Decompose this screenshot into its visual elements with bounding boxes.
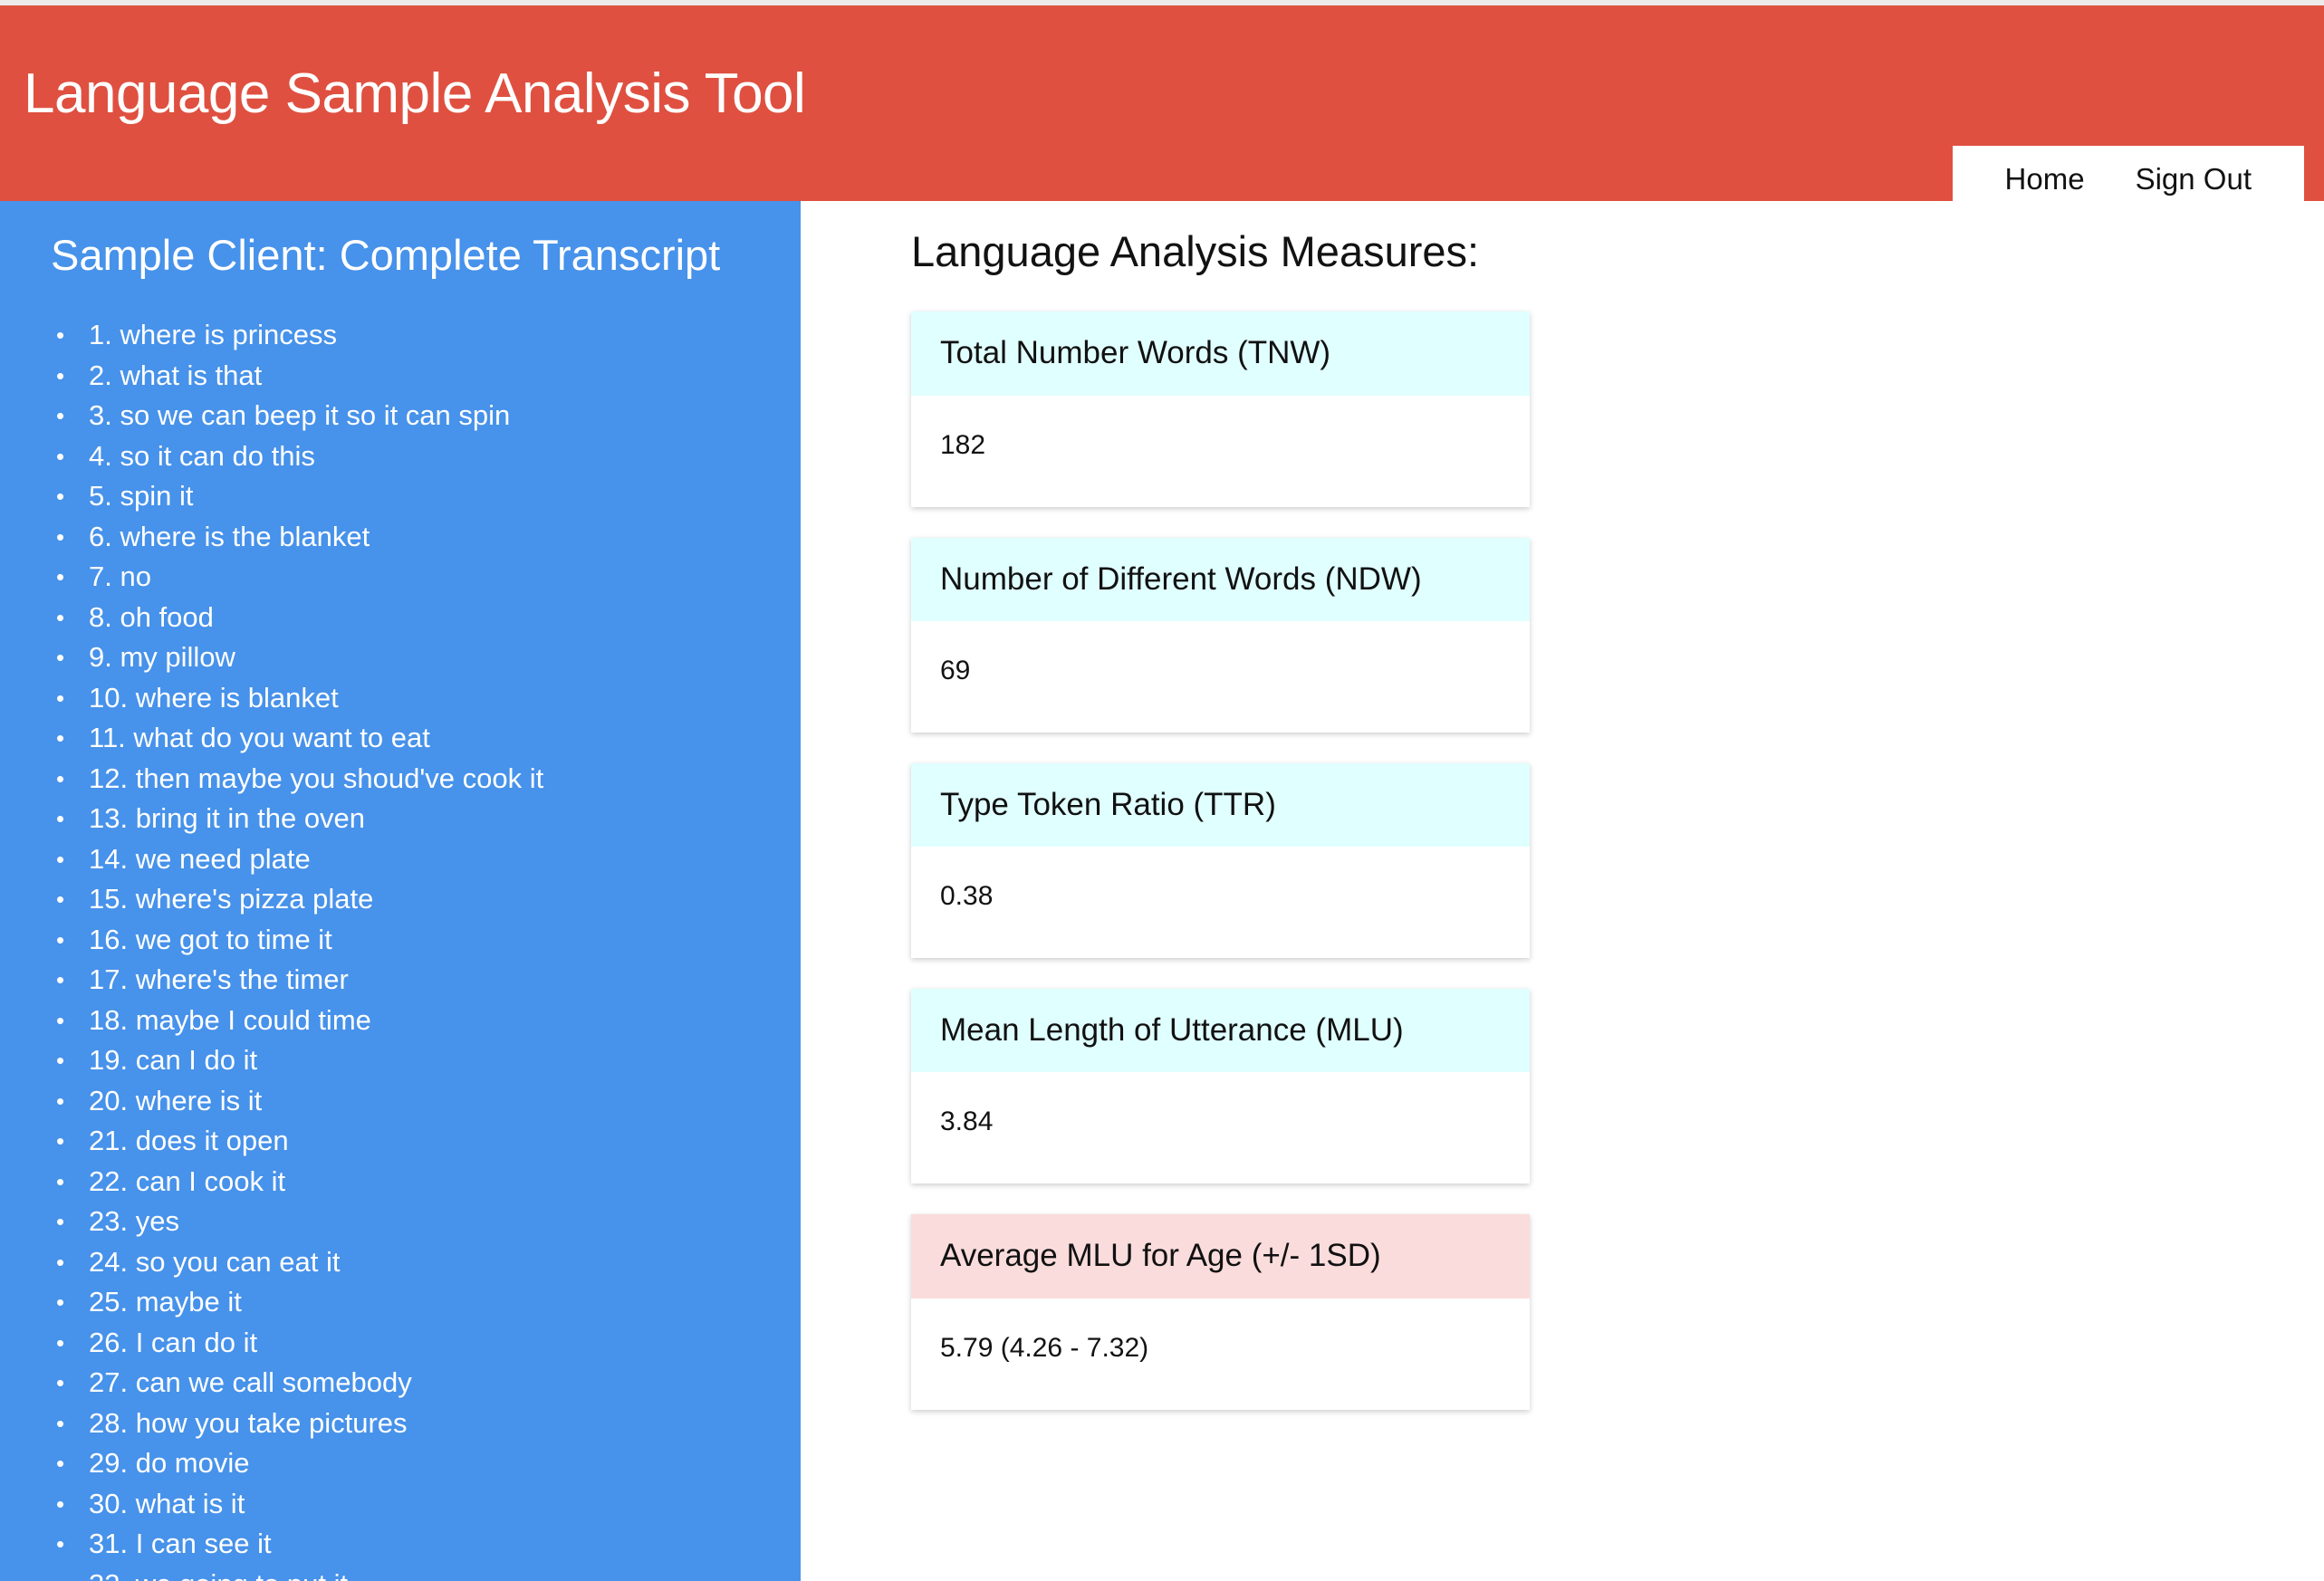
transcript-item: 6. where is the blanket	[89, 517, 801, 558]
transcript-item: 21. does it open	[89, 1121, 801, 1162]
measure-card: Average MLU for Age (+/- 1SD)5.79 (4.26 …	[911, 1214, 1530, 1409]
measure-card-value: 69	[911, 621, 1530, 733]
transcript-item: 29. do movie	[89, 1443, 801, 1484]
transcript-item: 13. bring it in the oven	[89, 799, 801, 839]
app-header: Language Sample Analysis Tool Home Sign …	[0, 5, 2324, 201]
transcript-item: 30. what is it	[89, 1484, 801, 1525]
transcript-item: 31. I can see it	[89, 1524, 801, 1565]
transcript-item: 15. where's pizza plate	[89, 879, 801, 920]
measure-card-label: Type Token Ratio (TTR)	[911, 763, 1530, 847]
page-body: Sample Client: Complete Transcript 1. wh…	[0, 201, 2324, 1581]
transcript-item: 2. what is that	[89, 356, 801, 397]
measures-title: Language Analysis Measures:	[911, 226, 2324, 277]
transcript-item: 5. spin it	[89, 476, 801, 517]
measure-card: Total Number Words (TNW)182	[911, 311, 1530, 506]
measure-card-value: 5.79 (4.26 - 7.32)	[911, 1298, 1530, 1410]
transcript-list: 1. where is princess2. what is that3. so…	[0, 315, 801, 1581]
transcript-item: 11. what do you want to eat	[89, 718, 801, 759]
transcript-item: 26. I can do it	[89, 1323, 801, 1364]
measure-card-value: 182	[911, 396, 1530, 507]
measure-card-stack: Total Number Words (TNW)182Number of Dif…	[911, 311, 2324, 1409]
transcript-item: 9. my pillow	[89, 637, 801, 678]
measure-card-label: Mean Length of Utterance (MLU)	[911, 989, 1530, 1072]
measures-panel: Language Analysis Measures: Total Number…	[801, 201, 2324, 1581]
transcript-item: 4. so it can do this	[89, 436, 801, 477]
measure-card: Number of Different Words (NDW)69	[911, 538, 1530, 733]
transcript-item: 20. where is it	[89, 1081, 801, 1122]
transcript-item: 17. where's the timer	[89, 960, 801, 1001]
measure-card-label: Total Number Words (TNW)	[911, 311, 1530, 395]
transcript-sidebar: Sample Client: Complete Transcript 1. wh…	[0, 201, 801, 1581]
measure-card-value: 3.84	[911, 1072, 1530, 1183]
transcript-item: 32. we going to put it	[89, 1565, 801, 1581]
transcript-item: 3. so we can beep it so it can spin	[89, 396, 801, 436]
transcript-item: 28. how you take pictures	[89, 1404, 801, 1444]
transcript-item: 7. no	[89, 557, 801, 598]
transcript-item: 1. where is princess	[89, 315, 801, 356]
nav-link-sign-out[interactable]: Sign Out	[2110, 146, 2277, 194]
transcript-item: 27. can we call somebody	[89, 1363, 801, 1404]
measure-card-value: 0.38	[911, 847, 1530, 958]
transcript-item: 24. so you can eat it	[89, 1242, 801, 1283]
transcript-item: 8. oh food	[89, 598, 801, 638]
transcript-item: 12. then maybe you shoud've cook it	[89, 759, 801, 800]
transcript-item: 23. yes	[89, 1202, 801, 1242]
main-nav: Home Sign Out	[1953, 146, 2304, 201]
transcript-title: Sample Client: Complete Transcript	[51, 230, 801, 281]
nav-link-home[interactable]: Home	[1980, 146, 2110, 194]
transcript-item: 16. we got to time it	[89, 920, 801, 961]
transcript-item: 25. maybe it	[89, 1282, 801, 1323]
transcript-item: 10. where is blanket	[89, 678, 801, 719]
app-title: Language Sample Analysis Tool	[24, 63, 805, 125]
measure-card-label: Average MLU for Age (+/- 1SD)	[911, 1214, 1530, 1298]
transcript-item: 22. can I cook it	[89, 1162, 801, 1203]
measure-card: Type Token Ratio (TTR)0.38	[911, 763, 1530, 958]
transcript-item: 18. maybe I could time	[89, 1001, 801, 1041]
measure-card-label: Number of Different Words (NDW)	[911, 538, 1530, 621]
measure-card: Mean Length of Utterance (MLU)3.84	[911, 989, 1530, 1183]
transcript-item: 19. can I do it	[89, 1040, 801, 1081]
transcript-item: 14. we need plate	[89, 839, 801, 880]
